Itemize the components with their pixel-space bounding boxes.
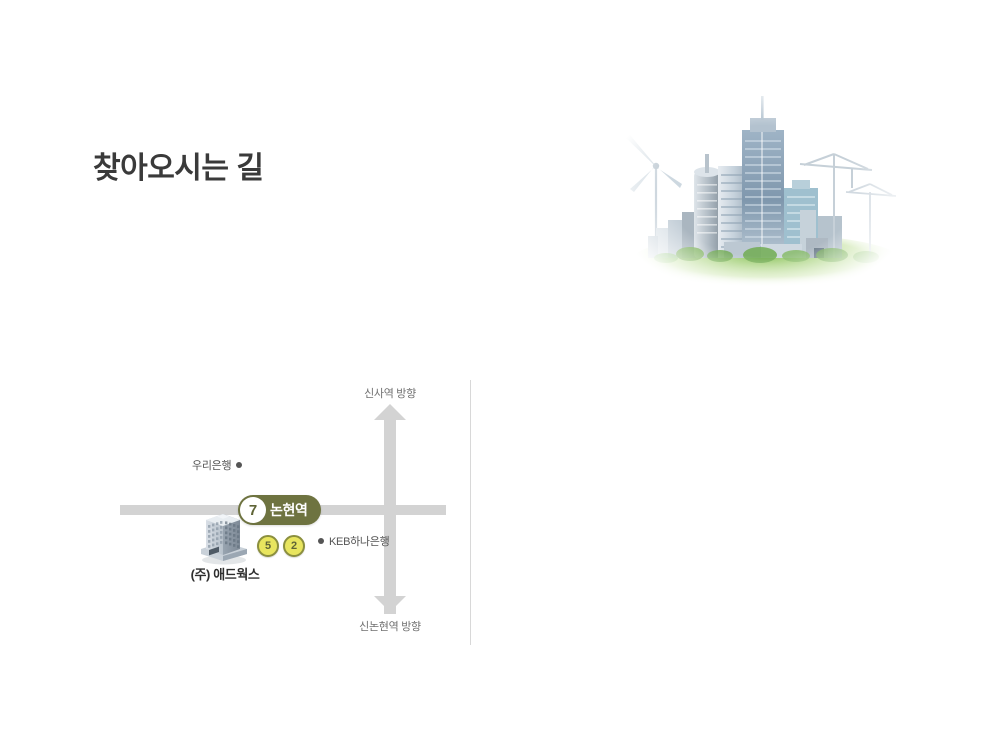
poi-keb-hana-bank-label: KEB하나은행 — [329, 533, 389, 549]
poi-woori-bank: 우리은행 — [192, 457, 242, 473]
arrow-up-icon — [374, 404, 406, 420]
subway-exit-2-icon: 2 — [283, 535, 305, 557]
cityscape-illustration — [620, 92, 906, 290]
vertical-divider — [470, 380, 471, 645]
poi-woori-bank-label: 우리은행 — [192, 457, 231, 473]
direction-label-top: 신사역 방향 — [250, 385, 530, 401]
station-name-label: 논현역 — [270, 503, 307, 517]
subway-line-7-icon: 7 — [240, 497, 266, 523]
direction-label-bottom: 신논현역 방향 — [250, 618, 530, 634]
arrow-down-icon — [374, 596, 406, 612]
dot-marker-icon — [236, 462, 242, 468]
poi-keb-hana-bank: KEB하나은행 — [318, 533, 389, 549]
dot-marker-icon — [318, 538, 324, 544]
station-badge-nonhyeon[interactable]: 7 논현역 — [238, 495, 321, 525]
location-map: 신사역 방향 신논현역 방향 우리은행 KEB하나은행 — [110, 378, 500, 650]
company-name-label: (주) 애드웍스 — [140, 564, 310, 583]
road-vertical — [384, 416, 396, 614]
subway-exit-5-icon: 5 — [257, 535, 279, 557]
page-title: 찾아오시는 길 — [93, 151, 263, 187]
